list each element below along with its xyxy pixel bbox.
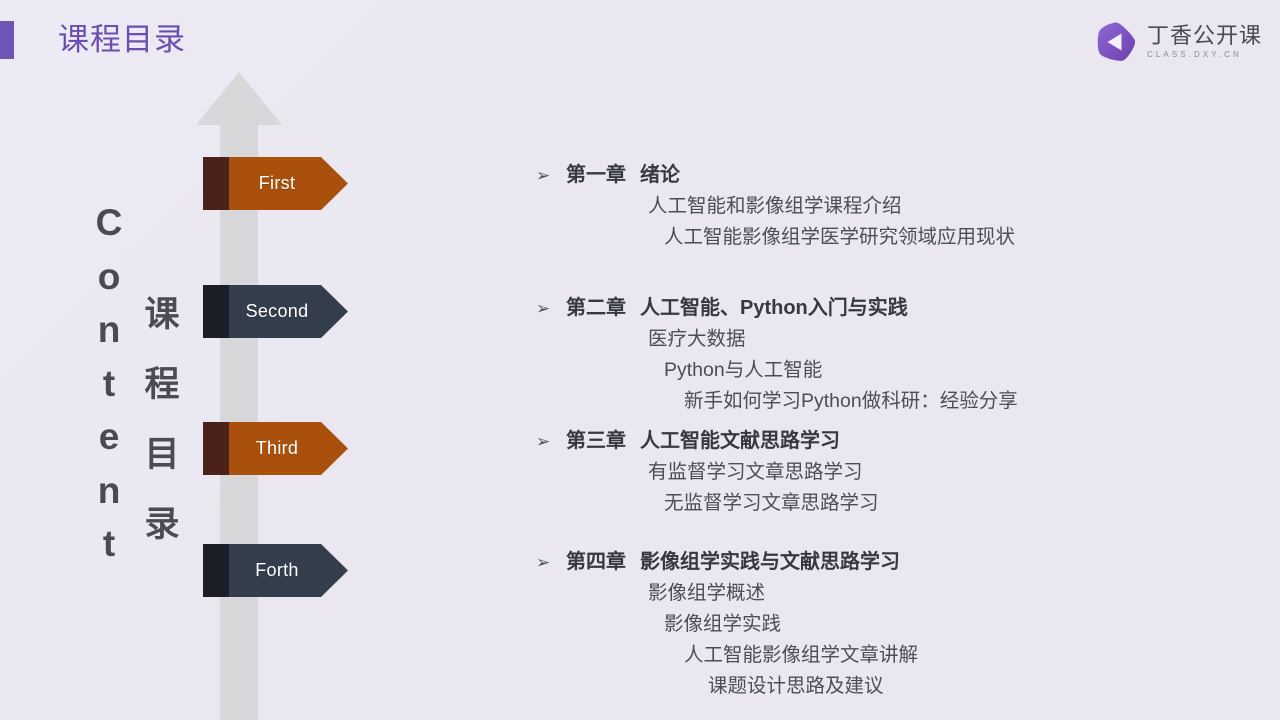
content-char: t: [86, 517, 132, 571]
arrow-bullet-icon: ➢: [536, 294, 566, 324]
arrow-bullet-icon: ➢: [536, 548, 566, 578]
brand-logo: 丁香公开课 CLASS.DXY.CN: [1095, 20, 1262, 63]
content-char: C: [86, 196, 132, 250]
chapter-title: 人工智能、Python入门与实践: [640, 293, 908, 323]
chapter-number: 第三章: [566, 426, 626, 456]
chapter-subitem: 影像组学实践: [664, 609, 918, 640]
chapter-heading: ➢ 第四章 影像组学实践与文献思路学习: [536, 547, 918, 578]
content-char: n: [86, 464, 132, 518]
chapter-heading: ➢ 第二章 人工智能、Python入门与实践: [536, 293, 1018, 324]
content-cn-char: 目: [140, 420, 184, 490]
step-banner[interactable]: First: [203, 157, 348, 210]
step-banner[interactable]: Second: [203, 285, 348, 338]
chapter-subitem: 有监督学习文章思路学习: [648, 457, 879, 488]
chapter-subitem: 人工智能和影像组学课程介绍: [648, 191, 1015, 222]
arrow-bullet-icon: ➢: [536, 161, 566, 191]
play-triangle-icon: [1095, 20, 1138, 63]
content-char: e: [86, 410, 132, 464]
chapter-number: 第一章: [566, 160, 626, 190]
chapter-block: ➢ 第一章 绪论 人工智能和影像组学课程介绍 人工智能影像组学医学研究领域应用现…: [536, 160, 1015, 253]
content-char: n: [86, 303, 132, 357]
step-label: Third: [229, 422, 325, 475]
chapter-title: 影像组学实践与文献思路学习: [640, 547, 900, 577]
chapter-title: 绪论: [640, 160, 680, 190]
content-char: t: [86, 357, 132, 411]
content-cn-char: 课: [140, 280, 184, 350]
chapter-subitem: 医疗大数据: [648, 324, 1018, 355]
title-accent-bar: [0, 21, 14, 59]
chapter-subitem: Python与人工智能: [664, 355, 1018, 386]
content-vertical-label: C o n t e n t: [86, 196, 132, 571]
logo-name: 丁香公开课: [1147, 24, 1262, 48]
page-title: 课程目录: [58, 20, 186, 60]
arrow-bullet-icon: ➢: [536, 427, 566, 457]
chapter-number: 第四章: [566, 547, 626, 577]
content-char: o: [86, 250, 132, 304]
chapter-title: 人工智能文献思路学习: [640, 426, 840, 456]
chapter-heading: ➢ 第三章 人工智能文献思路学习: [536, 426, 879, 457]
chapter-block: ➢ 第二章 人工智能、Python入门与实践 医疗大数据 Python与人工智能…: [536, 293, 1018, 417]
step-banner[interactable]: Forth: [203, 544, 348, 597]
step-banner[interactable]: Third: [203, 422, 348, 475]
chapter-subitem: 人工智能影像组学文章讲解: [684, 640, 918, 671]
chapter-subitem: 人工智能影像组学医学研究领域应用现状: [664, 222, 1015, 253]
chapter-subitem: 无监督学习文章思路学习: [664, 488, 879, 519]
chapter-number: 第二章: [566, 293, 626, 323]
chapter-subitem: 影像组学概述: [648, 578, 918, 609]
chapter-block: ➢ 第三章 人工智能文献思路学习 有监督学习文章思路学习 无监督学习文章思路学习: [536, 426, 879, 519]
chapter-heading: ➢ 第一章 绪论: [536, 160, 1015, 191]
step-label: First: [229, 157, 325, 210]
content-cn-char: 录: [140, 490, 184, 560]
chapter-subitem: 新手如何学习Python做科研：经验分享: [684, 386, 1018, 417]
step-label: Forth: [229, 544, 325, 597]
content-vertical-label-cn: 课 程 目 录: [140, 280, 184, 560]
slide-canvas: 课程目录 丁香公开课 CLASS.DXY.CN: [0, 0, 1280, 720]
content-cn-char: 程: [140, 350, 184, 420]
chapter-subitem: 课题设计思路及建议: [708, 671, 918, 702]
logo-subtitle: CLASS.DXY.CN: [1147, 50, 1262, 60]
step-label: Second: [229, 285, 325, 338]
chapter-block: ➢ 第四章 影像组学实践与文献思路学习 影像组学概述 影像组学实践 人工智能影像…: [536, 547, 918, 702]
